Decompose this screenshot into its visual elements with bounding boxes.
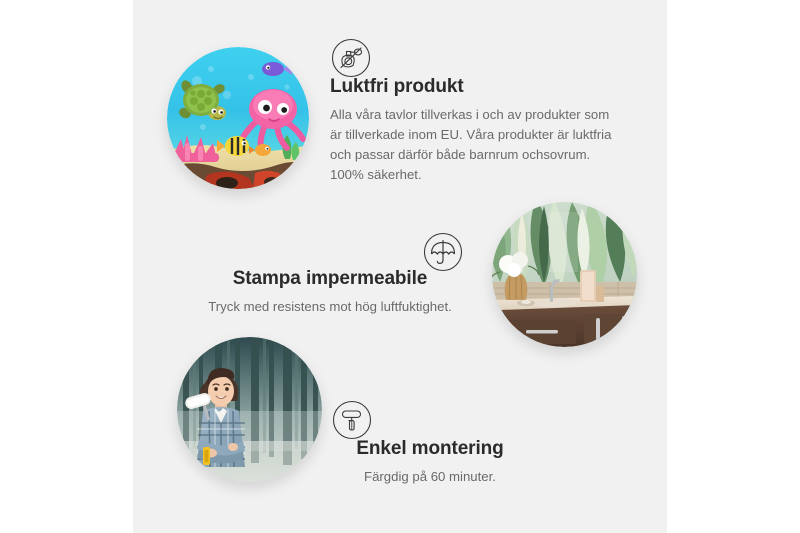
feature-block-impermeabile: Stampa impermeabile Tryck med resistens … — [180, 268, 480, 317]
feature-title: Stampa impermeabile — [180, 268, 480, 290]
umbrella-icon-glyph — [423, 232, 463, 272]
umbrella-icon — [423, 232, 463, 272]
ocean-animals-photo — [167, 47, 309, 189]
feature-block-montering: Enkel montering Färgdig på 60 minuter. — [300, 438, 560, 487]
paint-roller-icon — [332, 400, 372, 440]
paint-roller-icon-glyph — [332, 400, 372, 440]
feature-body: Färgdig på 60 minuter. — [300, 467, 560, 487]
bathroom-wallpaper-photo-inner — [492, 202, 637, 347]
ocean-animals-photo-inner — [167, 47, 309, 189]
product-feature-infographic: Luktfri produkt Alla våra tavlor tillver… — [0, 0, 800, 533]
no-fragrance-icon-glyph — [331, 38, 371, 78]
feature-body: Alla våra tavlor tillverkas i och av pro… — [330, 105, 620, 186]
bathroom-wallpaper-photo — [492, 202, 637, 347]
feature-body: Tryck med resistens mot hög luftfuktighe… — [180, 297, 480, 317]
ocean-animals-illustration — [167, 47, 309, 189]
feature-block-luktfri: Luktfri produkt Alla våra tavlor tillver… — [330, 76, 620, 186]
feature-title: Luktfri produkt — [330, 76, 620, 98]
no-fragrance-icon — [331, 38, 371, 78]
feature-title: Enkel montering — [300, 438, 560, 460]
bathroom-scene-illustration — [492, 202, 637, 347]
